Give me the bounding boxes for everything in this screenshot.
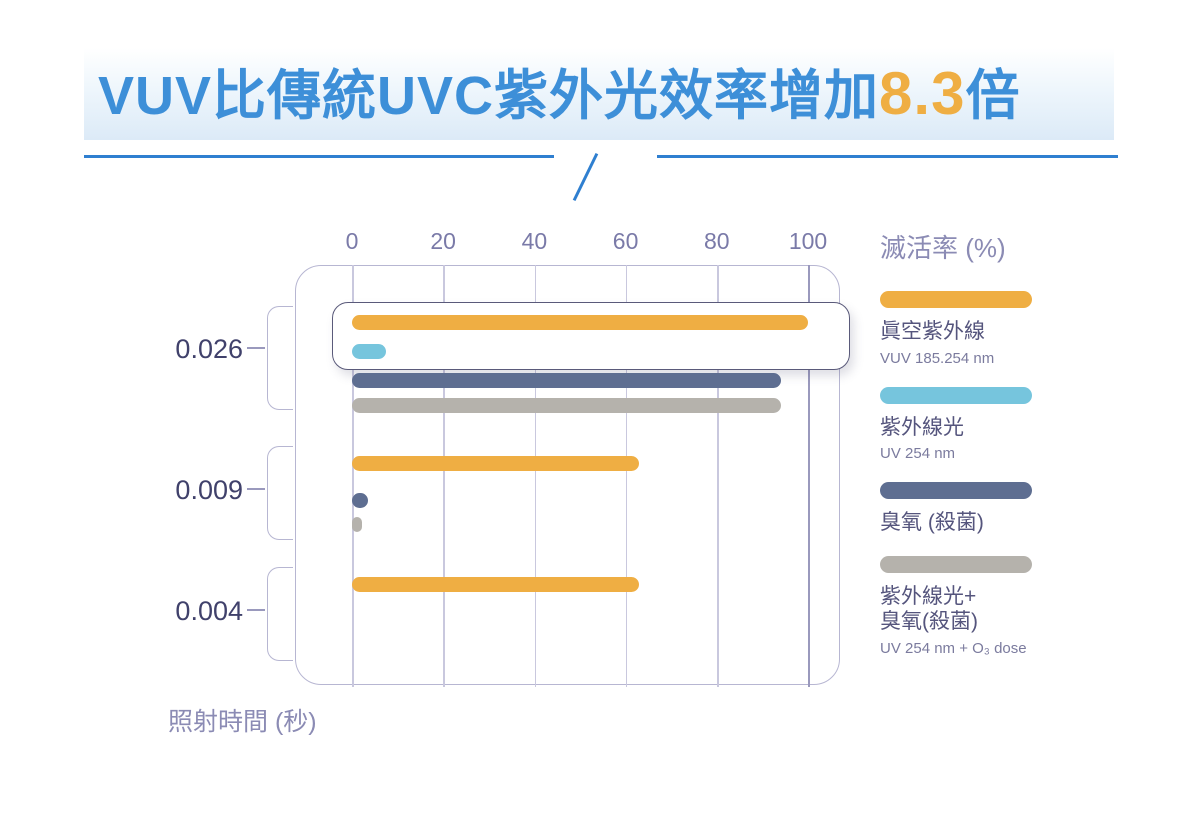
legend-label: 臭氧 (殺菌) (880, 510, 1110, 536)
legend-item-1[interactable]: 眞空紫外線VUV 185.254 nm (880, 291, 1110, 367)
page-title-accent-number: 8.3 (879, 60, 965, 127)
y-group-bracket-0.026 (267, 306, 293, 410)
y-group-bracket-0.004 (267, 567, 293, 661)
bar-0.004-orange (352, 577, 639, 592)
bar-0.009-navy (352, 493, 368, 508)
divider-left-segment (84, 155, 554, 158)
legend-item-2[interactable]: 紫外線光UV 254 nm (880, 387, 1110, 463)
x-tick-label-60: 60 (613, 228, 639, 255)
bar-0.026-navy (352, 373, 781, 388)
x-tick-label-100: 100 (789, 228, 827, 255)
bar-0.026-orange (352, 315, 808, 330)
x-tick-label-0: 0 (346, 228, 359, 255)
highlight-card-vuv (332, 302, 850, 370)
legend-swatch-icon-orange (880, 291, 1032, 308)
bar-0.026-cyan (352, 344, 386, 359)
y-axis-caption: 照射時間 (秒) (168, 702, 317, 738)
title-divider (84, 155, 1118, 199)
page-title-tail: 倍 (965, 66, 1020, 126)
y-tick-dash-0.009 (247, 488, 265, 490)
chart-legend: 滅活率 (%) 眞空紫外線VUV 185.254 nm紫外線光UV 254 nm… (880, 228, 1110, 677)
y-group-bracket-0.009 (267, 446, 293, 540)
divider-slash-accent (573, 153, 598, 201)
legend-swatch-icon-navy (880, 482, 1032, 499)
legend-items: 眞空紫外線VUV 185.254 nm紫外線光UV 254 nm臭氧 (殺菌)紫… (880, 291, 1110, 657)
y-tick-dash-0.026 (247, 347, 265, 349)
legend-item-4[interactable]: 紫外線光+ 臭氧(殺菌)UV 254 nm + O₃ dose (880, 556, 1110, 657)
legend-label: 紫外線光 (880, 415, 1110, 441)
bar-0.009-gray (352, 517, 362, 532)
page-title-main: VUV比傳統UVC紫外光效率增加 (98, 66, 879, 126)
legend-label: 眞空紫外線 (880, 319, 1110, 345)
y-tick-label-0.009: 0.009 (175, 475, 243, 506)
y-tick-label-0.026: 0.026 (175, 334, 243, 365)
legend-sublabel: VUV 185.254 nm (880, 350, 1110, 367)
page-title: VUV比傳統UVC紫外光效率增加8.3倍 (98, 52, 1108, 136)
bar-0.026-gray (352, 398, 781, 413)
x-tick-label-80: 80 (704, 228, 730, 255)
x-tick-label-40: 40 (522, 228, 548, 255)
legend-swatch-icon-cyan (880, 387, 1032, 404)
y-tick-label-0.004: 0.004 (175, 596, 243, 627)
x-tick-label-20: 20 (430, 228, 456, 255)
legend-sublabel: UV 254 nm + O₃ dose (880, 640, 1110, 657)
y-tick-dash-0.004 (247, 609, 265, 611)
bar-0.009-orange (352, 456, 639, 471)
legend-label: 紫外線光+ 臭氧(殺菌) (880, 584, 1110, 635)
legend-title: 滅活率 (%) (880, 228, 1110, 265)
legend-swatch-icon-gray (880, 556, 1032, 573)
divider-right-segment (657, 155, 1118, 158)
legend-item-3[interactable]: 臭氧 (殺菌) (880, 482, 1110, 536)
legend-sublabel: UV 254 nm (880, 445, 1110, 462)
